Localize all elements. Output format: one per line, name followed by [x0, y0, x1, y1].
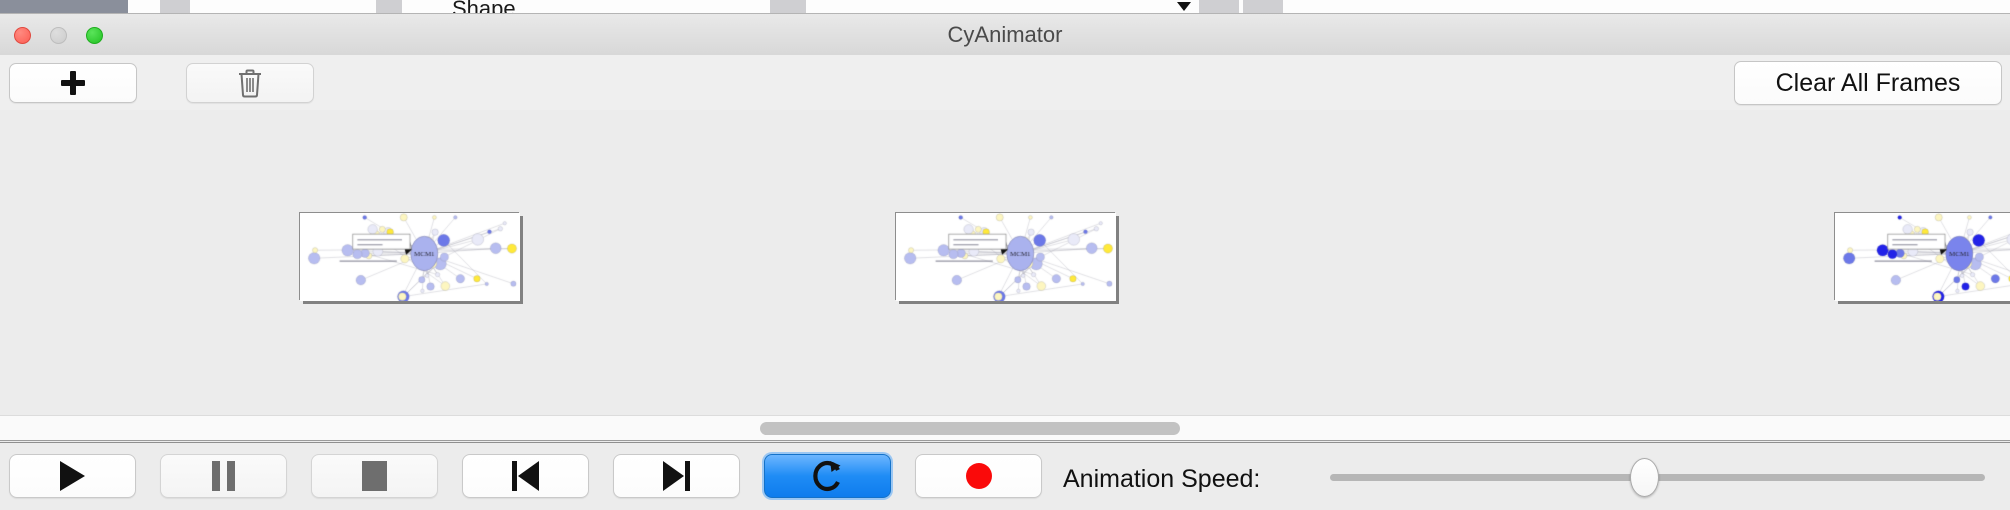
plus-icon [61, 71, 85, 95]
clear-all-frames-label: Clear All Frames [1776, 69, 1961, 98]
scrollbar-thumb[interactable] [760, 422, 1180, 435]
record-icon [966, 463, 992, 489]
clear-all-frames-button[interactable]: Clear All Frames [1734, 61, 2002, 105]
timeline-frame-thumbnail[interactable] [299, 212, 519, 300]
next-button[interactable] [613, 454, 740, 498]
network-graph-image [300, 213, 520, 301]
timeline-frame-thumbnail[interactable] [1834, 212, 2010, 300]
loop-button[interactable] [764, 454, 891, 498]
loop-icon [812, 459, 844, 493]
timeline-scrollbar[interactable] [0, 415, 2010, 441]
background-window-label: Shape [452, 0, 516, 14]
toolbar: Clear All Frames [0, 55, 2010, 111]
transport-bar: Animation Speed: [0, 442, 2010, 510]
title-bar[interactable]: CyAnimator [0, 14, 2010, 56]
delete-frame-button[interactable] [186, 63, 314, 103]
stop-icon [362, 461, 387, 491]
timeline-panel[interactable]: 2131415161718 Seconds [0, 110, 2010, 415]
background-caret-icon [1177, 2, 1191, 11]
add-frame-button[interactable] [9, 63, 137, 103]
network-graph-image [1835, 213, 2010, 301]
pause-button[interactable] [160, 454, 287, 498]
play-icon [60, 461, 85, 491]
timeline-frame-thumbnail[interactable] [895, 212, 1115, 300]
skip-forward-icon [663, 461, 690, 491]
animation-speed-thumb[interactable] [1630, 458, 1659, 497]
window-title: CyAnimator [0, 14, 2010, 55]
cyanimator-window: Shape CyAnimator Clear All Frames [0, 0, 2010, 510]
animation-speed-slider[interactable] [1330, 474, 1985, 481]
record-button[interactable] [915, 454, 1042, 498]
play-button[interactable] [9, 454, 136, 498]
pause-icon [212, 461, 235, 491]
background-window-strip: Shape [0, 0, 2010, 14]
network-graph-image [896, 213, 1116, 301]
animation-speed-label: Animation Speed: [1063, 465, 1260, 494]
stop-button[interactable] [311, 454, 438, 498]
skip-back-icon [512, 461, 539, 491]
previous-button[interactable] [462, 454, 589, 498]
trash-icon [237, 68, 263, 98]
